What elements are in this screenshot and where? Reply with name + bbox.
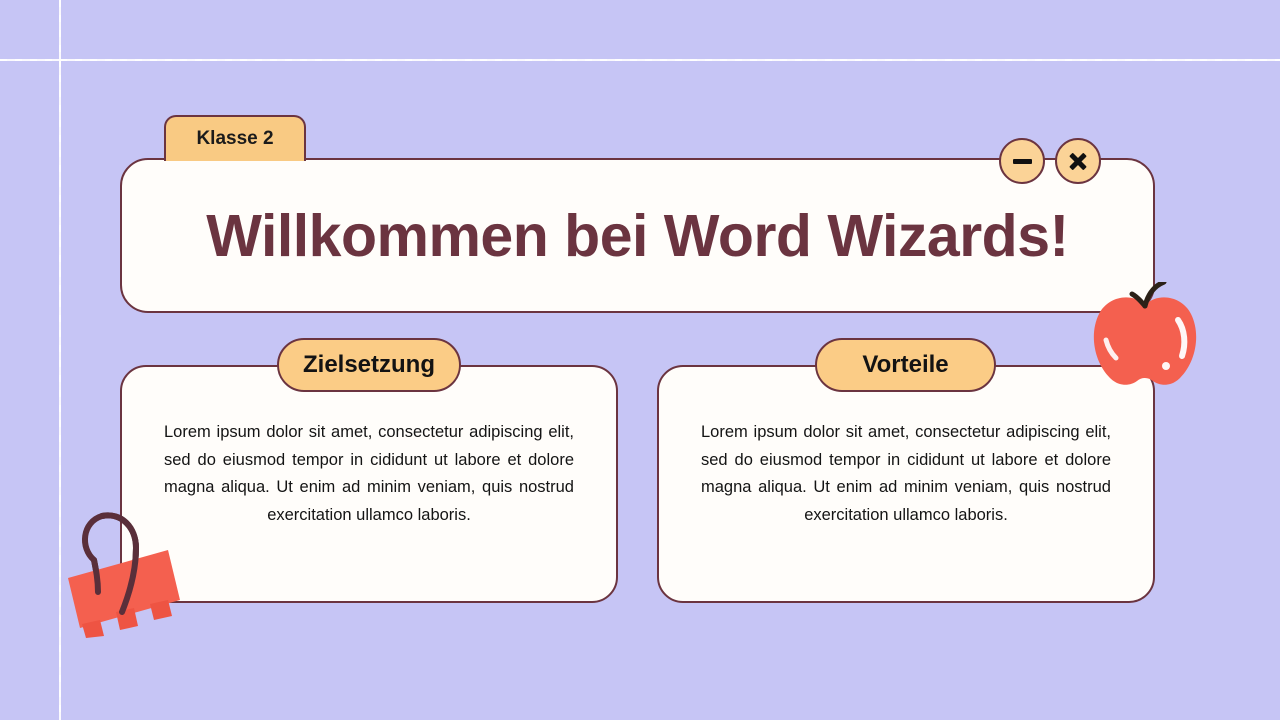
klasse-tab[interactable]: Klasse 2 — [164, 115, 306, 161]
section-body-zielsetzung: Lorem ipsum dolor sit amet, consectetur … — [164, 419, 574, 529]
apple-icon — [1086, 282, 1204, 390]
section-card-vorteile: Lorem ipsum dolor sit amet, consectetur … — [657, 365, 1155, 603]
section-card-zielsetzung: Lorem ipsum dolor sit amet, consectetur … — [120, 365, 618, 603]
klasse-tab-label: Klasse 2 — [196, 128, 273, 150]
binder-clip-icon — [60, 508, 190, 638]
minimize-button[interactable] — [999, 138, 1045, 184]
slide-canvas: Klasse 2 Willkommen bei Word Wizards! Lo… — [0, 0, 1280, 720]
minimize-icon — [1013, 159, 1032, 164]
page-title: Willkommen bei Word Wizards! — [206, 202, 1068, 270]
section-tab-zielsetzung[interactable]: Zielsetzung — [277, 338, 461, 392]
header-card: Willkommen bei Word Wizards! — [120, 158, 1155, 313]
close-button[interactable] — [1055, 138, 1101, 184]
section-tab-label-zielsetzung: Zielsetzung — [303, 351, 435, 379]
section-tab-label-vorteile: Vorteile — [862, 351, 948, 379]
section-body-vorteile: Lorem ipsum dolor sit amet, consectetur … — [701, 419, 1111, 529]
section-tab-vorteile[interactable]: Vorteile — [815, 338, 996, 392]
close-icon — [1068, 151, 1088, 171]
